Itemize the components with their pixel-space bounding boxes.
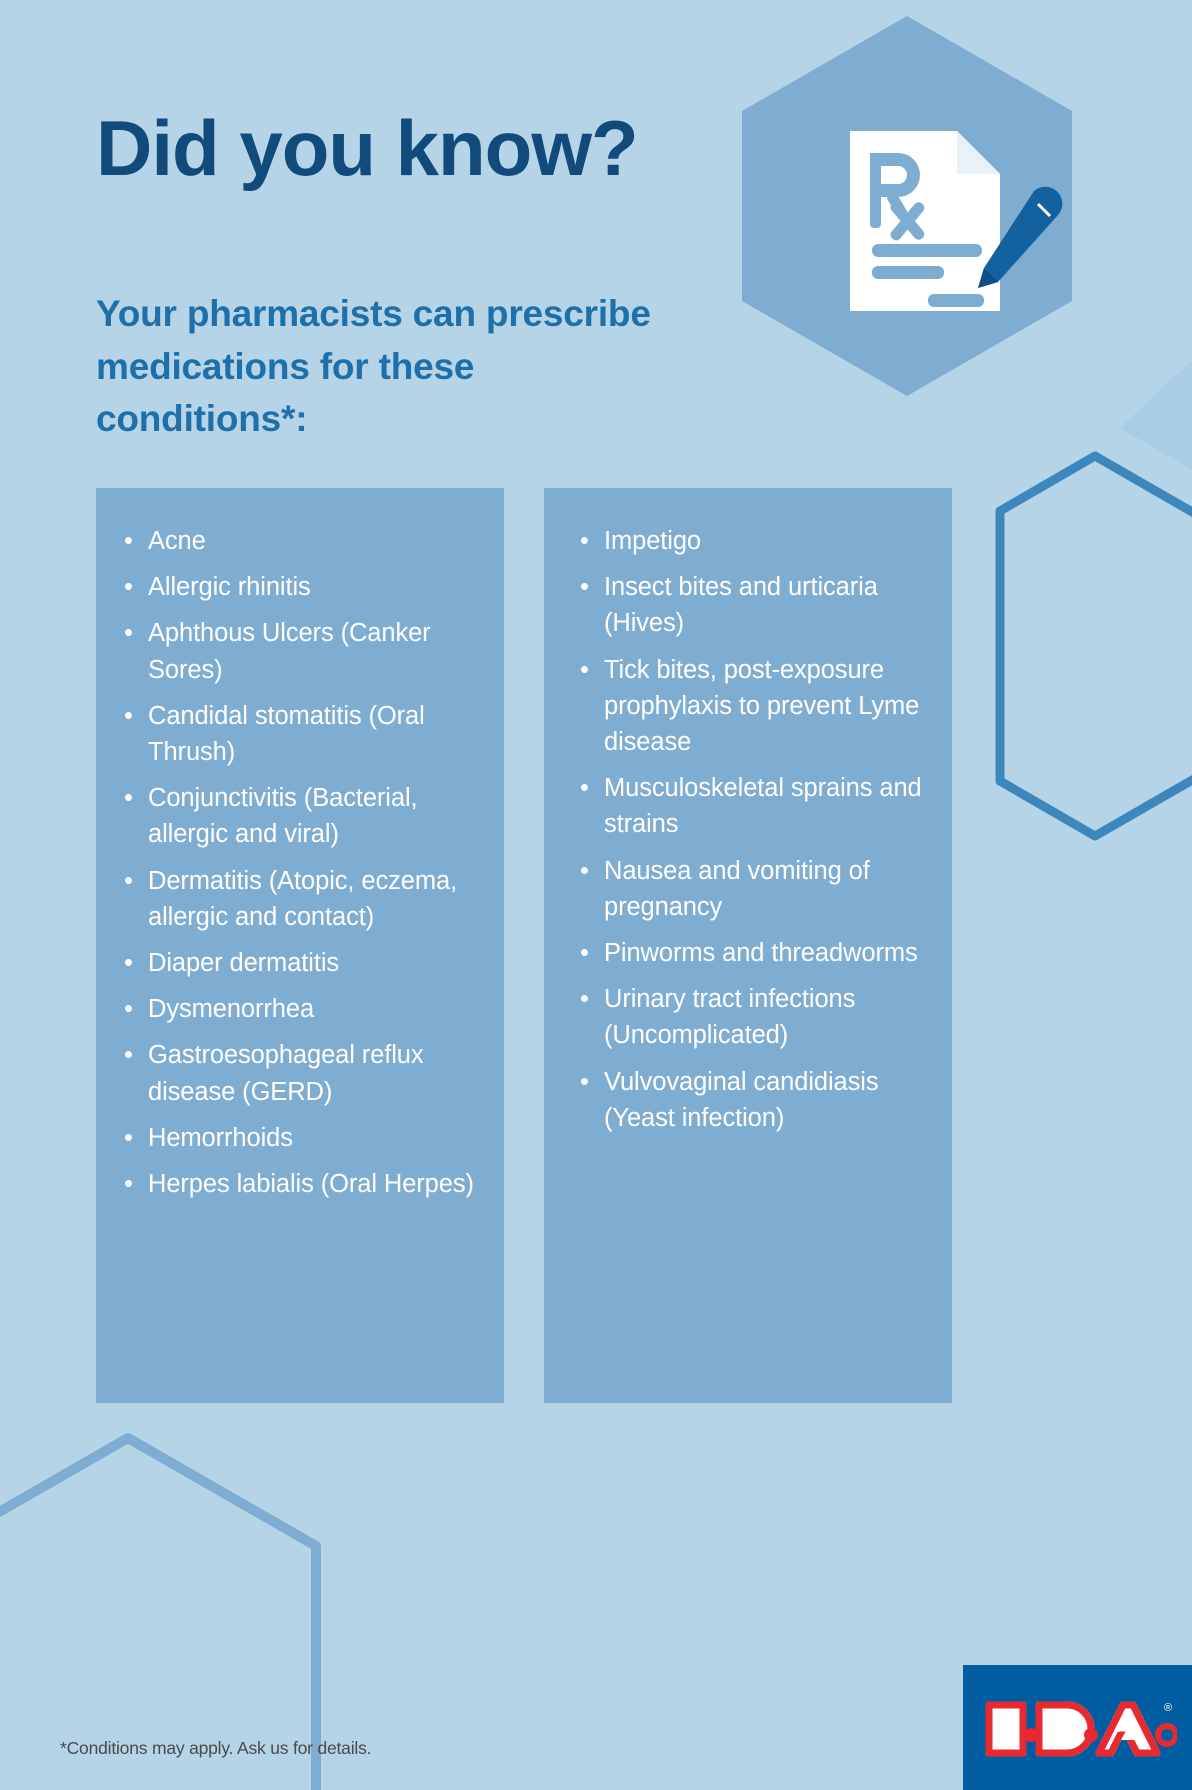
bullet-icon: • <box>580 935 589 971</box>
condition-list-item: •Insect bites and urticaria (Hives) <box>574 569 932 641</box>
condition-list-item: •Impetigo <box>574 523 932 559</box>
condition-label: Nausea and vomiting of pregnancy <box>604 857 870 921</box>
condition-label: Herpes labialis (Oral Herpes) <box>148 1170 474 1198</box>
condition-list-item: •Candidal stomatitis (Oral Thrush) <box>118 698 484 770</box>
condition-list-item: •Diaper dermatitis <box>118 945 484 981</box>
condition-list-item: •Dermatitis (Atopic, eczema, allergic an… <box>118 863 484 935</box>
bullet-icon: • <box>124 615 133 651</box>
bullet-icon: • <box>580 523 589 559</box>
bullet-icon: • <box>124 569 133 605</box>
condition-label: Dermatitis (Atopic, eczema, allergic and… <box>148 867 457 931</box>
condition-list-item: •Gastroesophageal reflux disease (GERD) <box>118 1037 484 1109</box>
bullet-icon: • <box>124 991 133 1027</box>
document-folded-corner <box>957 131 1000 174</box>
document-signature-line <box>928 294 984 307</box>
ida-logo-mark: ® <box>981 1691 1177 1767</box>
condition-label: Hemorrhoids <box>148 1124 293 1152</box>
condition-list-item: •Aphthous Ulcers (Canker Sores) <box>118 615 484 687</box>
bullet-icon: • <box>580 569 589 605</box>
bullet-icon: • <box>124 698 133 734</box>
condition-label: Impetigo <box>604 527 701 555</box>
page-title: Did you know? <box>96 108 638 190</box>
conditions-panel-left: •Acne•Allergic rhinitis•Aphthous Ulcers … <box>96 488 504 1403</box>
ida-logo: ® <box>963 1665 1192 1790</box>
bullet-icon: • <box>580 770 589 806</box>
conditions-list-left: •Acne•Allergic rhinitis•Aphthous Ulcers … <box>96 488 504 1202</box>
condition-label: Aphthous Ulcers (Canker Sores) <box>148 619 431 683</box>
condition-label: Musculoskeletal sprains and strains <box>604 774 922 838</box>
bullet-icon: • <box>124 1037 133 1073</box>
condition-list-item: •Acne <box>118 523 484 559</box>
hexagon-shape-outline-right <box>1000 456 1192 836</box>
bullet-icon: • <box>124 1120 133 1156</box>
prescription-document-icon <box>742 16 1072 396</box>
bullet-icon: • <box>124 1166 133 1202</box>
condition-list-item: •Dysmenorrhea <box>118 991 484 1027</box>
condition-list-item: •Herpes labialis (Oral Herpes) <box>118 1166 484 1202</box>
bullet-icon: • <box>124 945 133 981</box>
condition-label: Insect bites and urticaria (Hives) <box>604 573 878 637</box>
document-text-line <box>872 244 982 257</box>
condition-list-item: •Allergic rhinitis <box>118 569 484 605</box>
condition-label: Candidal stomatitis (Oral Thrush) <box>148 702 425 766</box>
condition-label: Vulvovaginal candidiasis (Yeast infectio… <box>604 1068 879 1132</box>
bullet-icon: • <box>124 863 133 899</box>
bullet-icon: • <box>580 1064 589 1100</box>
page-subtitle: Your pharmacists can prescribe medicatio… <box>96 288 656 446</box>
condition-label: Allergic rhinitis <box>148 573 311 601</box>
bullet-icon: • <box>580 981 589 1017</box>
registered-mark: ® <box>1164 1702 1172 1714</box>
bullet-icon: • <box>580 652 589 688</box>
poster-root: Did you know? Your pharmacists can presc… <box>0 0 1192 1790</box>
bullet-icon: • <box>124 523 133 559</box>
condition-list-item: •Vulvovaginal candidiasis (Yeast infecti… <box>574 1064 932 1136</box>
footnote-text: *Conditions may apply. Ask us for detail… <box>60 1738 371 1759</box>
bullet-icon: • <box>124 780 133 816</box>
condition-label: Diaper dermatitis <box>148 949 339 977</box>
condition-label: Dysmenorrhea <box>148 995 314 1023</box>
condition-list-item: •Urinary tract infections (Uncomplicated… <box>574 981 932 1053</box>
condition-label: Tick bites, post-exposure prophylaxis to… <box>604 656 919 756</box>
condition-label: Pinworms and threadworms <box>604 939 918 967</box>
condition-label: Urinary tract infections (Uncomplicated) <box>604 985 855 1049</box>
document-text-line <box>872 266 944 279</box>
condition-label: Acne <box>148 527 206 555</box>
condition-list-item: •Musculoskeletal sprains and strains <box>574 770 932 842</box>
conditions-list-right: •Impetigo•Insect bites and urticaria (Hi… <box>544 488 952 1136</box>
bullet-icon: • <box>580 853 589 889</box>
condition-list-item: •Pinworms and threadworms <box>574 935 932 971</box>
condition-label: Gastroesophageal reflux disease (GERD) <box>148 1041 424 1105</box>
conditions-panel-right: •Impetigo•Insect bites and urticaria (Hi… <box>544 488 952 1403</box>
condition-list-item: •Tick bites, post-exposure prophylaxis t… <box>574 652 932 761</box>
condition-list-item: •Nausea and vomiting of pregnancy <box>574 853 932 925</box>
condition-list-item: •Conjunctivitis (Bacterial, allergic and… <box>118 780 484 852</box>
condition-label: Conjunctivitis (Bacterial, allergic and … <box>148 784 418 848</box>
hexagon-shape-edge-upper-right <box>1120 360 1192 470</box>
condition-list-item: •Hemorrhoids <box>118 1120 484 1156</box>
